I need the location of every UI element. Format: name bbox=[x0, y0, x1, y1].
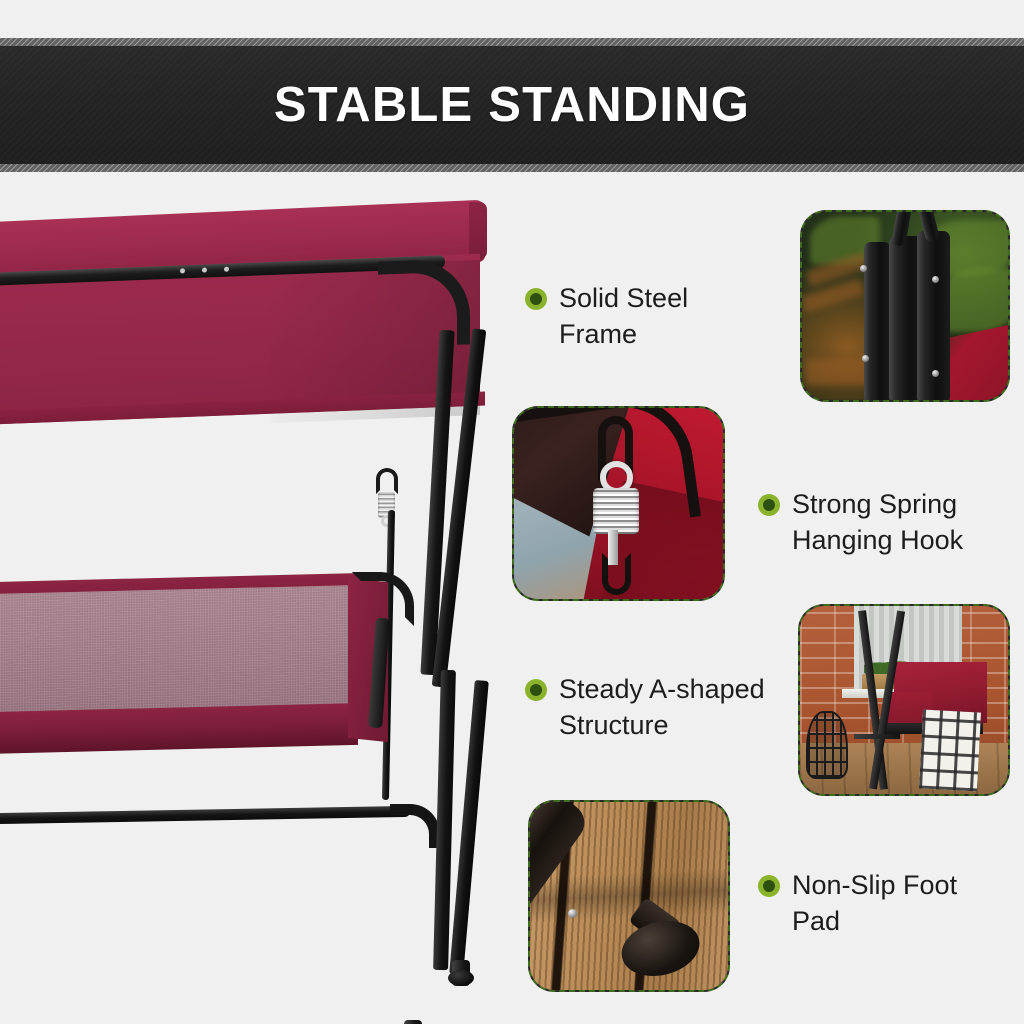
lower-cross-rail bbox=[0, 806, 410, 825]
bullet-icon bbox=[525, 679, 547, 701]
banner-top-edge bbox=[0, 38, 1024, 46]
feature-label-strong-spring-hanging-hook: Strong Spring Hanging Hook bbox=[758, 487, 1008, 558]
photo-canvas bbox=[514, 408, 723, 599]
feature-photo-steady-a-shaped-structure bbox=[798, 604, 1010, 796]
hanger-hook-top bbox=[376, 468, 398, 494]
feature-label-solid-steel-frame: Solid Steel Frame bbox=[525, 281, 755, 352]
feature-label-steady-a-shaped-structure: Steady A-shaped Structure bbox=[525, 672, 790, 743]
photo-canvas bbox=[530, 802, 728, 990]
feature-label-text: Steady A-shaped Structure bbox=[559, 672, 765, 743]
header-banner: STABLE STANDING bbox=[0, 38, 1024, 172]
rail-bolt bbox=[202, 267, 207, 272]
foot-pad bbox=[448, 970, 474, 986]
feature-photo-strong-spring-hanging-hook bbox=[512, 406, 725, 601]
feature-photo-solid-steel-frame bbox=[800, 210, 1010, 402]
feature-label-text: Strong Spring Hanging Hook bbox=[792, 487, 963, 558]
frame-leg-rear bbox=[449, 680, 489, 975]
feature-photo-non-slip-foot-pad bbox=[528, 800, 730, 992]
feature-label-text: Non-Slip Foot Pad bbox=[792, 868, 957, 939]
screw bbox=[932, 276, 939, 283]
bullet-icon bbox=[758, 494, 780, 516]
product-hero-photo bbox=[0, 180, 505, 1024]
bullet-icon bbox=[525, 288, 547, 310]
leg-sleeve bbox=[404, 1020, 422, 1024]
page-title: STABLE STANDING bbox=[274, 77, 750, 133]
coil-spring bbox=[593, 488, 639, 534]
feature-label-text: Solid Steel Frame bbox=[559, 281, 688, 352]
infographic-page: STABLE STANDING bbox=[0, 0, 1024, 1024]
screw bbox=[932, 370, 939, 377]
screw bbox=[862, 355, 869, 362]
lower-rail-elbow bbox=[390, 804, 440, 848]
photo-canvas bbox=[802, 212, 1008, 400]
feature-label-non-slip-foot-pad: Non-Slip Foot Pad bbox=[758, 868, 1008, 939]
rail-bolt bbox=[180, 268, 185, 273]
rail-bolt bbox=[224, 267, 229, 272]
photo-canvas bbox=[800, 606, 1008, 794]
swing-illustration bbox=[0, 180, 505, 1024]
lower-hook bbox=[602, 553, 631, 595]
banner-bottom-edge bbox=[0, 164, 1024, 172]
wire-lantern bbox=[806, 711, 848, 779]
steel-tube bbox=[864, 242, 891, 402]
bullet-icon bbox=[758, 875, 780, 897]
seat-backrest-mesh bbox=[0, 585, 370, 724]
screw bbox=[860, 265, 867, 272]
deck-screw bbox=[568, 909, 577, 918]
a-frame-crossbar bbox=[854, 734, 900, 740]
